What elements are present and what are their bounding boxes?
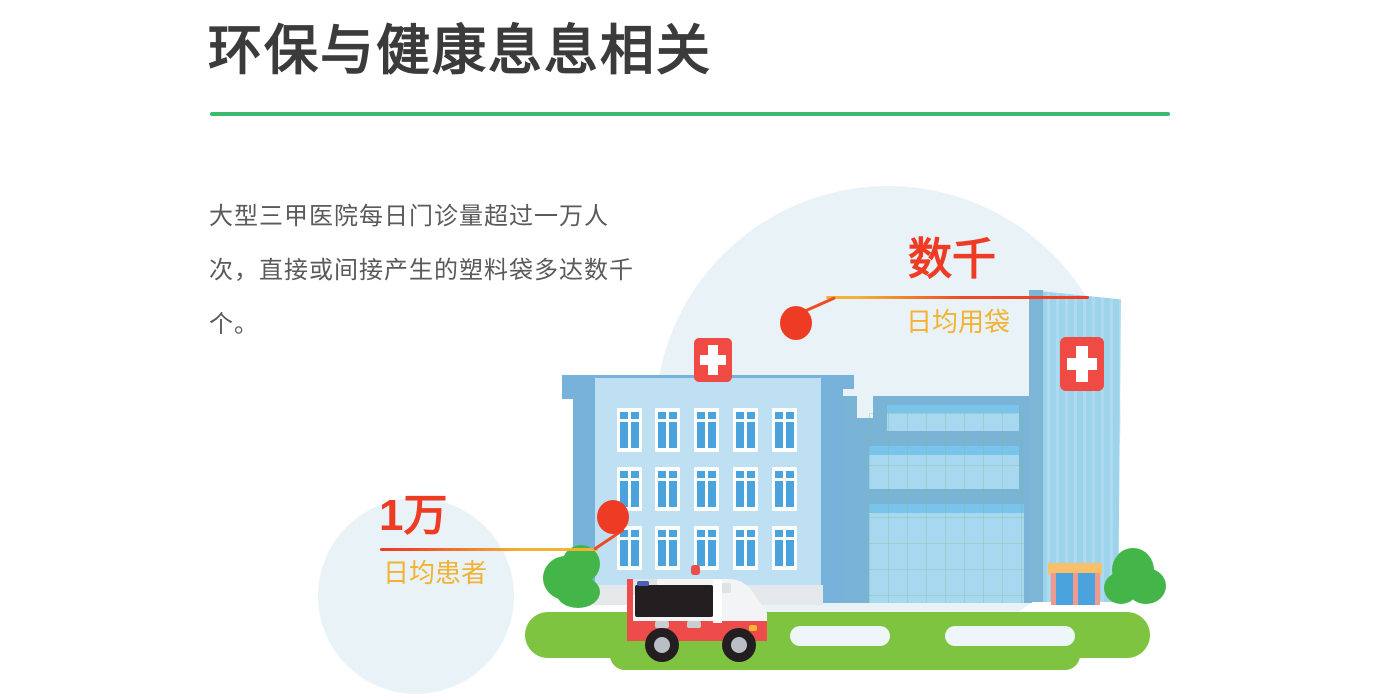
- window: [733, 408, 758, 452]
- ambulance-roof-marker: [637, 581, 649, 586]
- mid-building-glass-grid: [869, 413, 1024, 603]
- window: [772, 467, 797, 511]
- ambulance-indicator: [749, 625, 757, 631]
- ambulance-handle: [687, 621, 701, 628]
- cross-horizontal-bar: [1067, 358, 1097, 370]
- ambulance-hubcap-rear: [654, 637, 670, 653]
- ambulance-front-stripe: [627, 579, 633, 637]
- mid-building-left-edge: [843, 396, 857, 603]
- door-frame-middle: [1073, 573, 1078, 605]
- bush-left: [556, 576, 600, 608]
- ambulance: [617, 565, 777, 665]
- ambulance-door-divider: [713, 579, 722, 623]
- callout-patients-anchor-dot[interactable]: [597, 500, 629, 534]
- door-frame-left: [1051, 573, 1056, 605]
- roof-red-cross-sign: [694, 338, 732, 382]
- window: [733, 526, 758, 570]
- tower-left-edge: [1029, 290, 1043, 602]
- callout-patients-rule: [380, 548, 598, 551]
- tower-red-cross-sign: [1060, 337, 1104, 391]
- ambulance-siren-light: [691, 565, 700, 575]
- cross-horizontal-bar: [700, 355, 726, 365]
- ambulance-hubcap-front: [731, 637, 747, 653]
- window: [655, 467, 680, 511]
- main-building-pillar-right: [821, 378, 843, 603]
- window: [772, 526, 797, 570]
- path-marking: [790, 626, 890, 646]
- callout-patients-label: 日均患者: [383, 560, 487, 586]
- window: [694, 526, 719, 570]
- window: [772, 408, 797, 452]
- callout-bags-rule: [826, 296, 1089, 299]
- callout-patients-value: 1万: [379, 494, 447, 538]
- window: [694, 467, 719, 511]
- window: [655, 526, 680, 570]
- slide-canvas: 环保与健康息息相关 大型三甲医院每日门诊量超过一万人次，直接或间接产生的塑料袋多…: [0, 0, 1400, 700]
- window: [617, 408, 642, 452]
- ambulance-window-band: [635, 585, 713, 617]
- bush-right: [1104, 572, 1138, 604]
- callout-bags-label: 日均用袋: [906, 309, 1010, 335]
- door-frame-right: [1095, 573, 1100, 605]
- window: [694, 408, 719, 452]
- ambulance-handle: [655, 621, 669, 628]
- window: [655, 408, 680, 452]
- callout-bags-value: 数千: [908, 238, 996, 282]
- path-marking: [945, 626, 1075, 646]
- mid-building-glass-band-top-cap: [887, 405, 1019, 413]
- window: [733, 467, 758, 511]
- hospital-illustration: [0, 0, 1400, 700]
- callout-bags-anchor-dot[interactable]: [780, 306, 812, 340]
